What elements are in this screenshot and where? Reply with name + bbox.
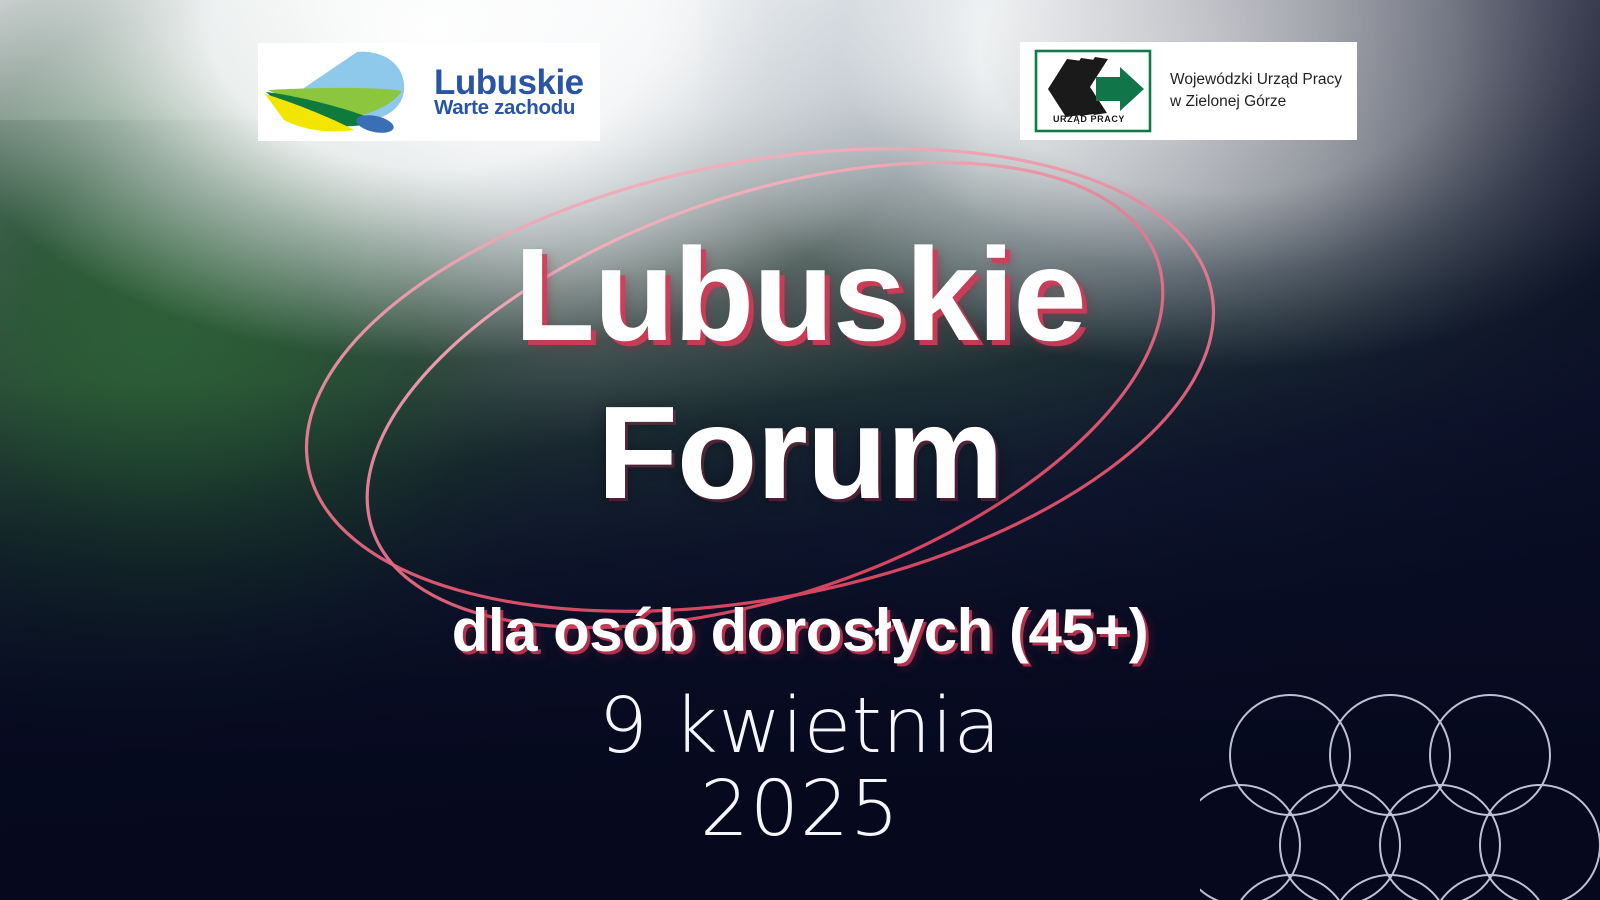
poster-title-line-2: Forum [0,377,1600,528]
poster-title-line-1: Lubuskie [0,219,1600,370]
poster-date-line-1: 9 kwietnia [0,682,1600,771]
headline-block: Lubuskie Forum dla osób dorosłych (45+) … [0,0,1600,900]
poster-date-line-2: 2025 [0,765,1600,854]
poster-subtitle: dla osób dorosłych (45+) [0,596,1600,665]
poster-canvas: Lubuskie Warte zachodu URZĄD PRACY Wojew… [0,0,1600,900]
